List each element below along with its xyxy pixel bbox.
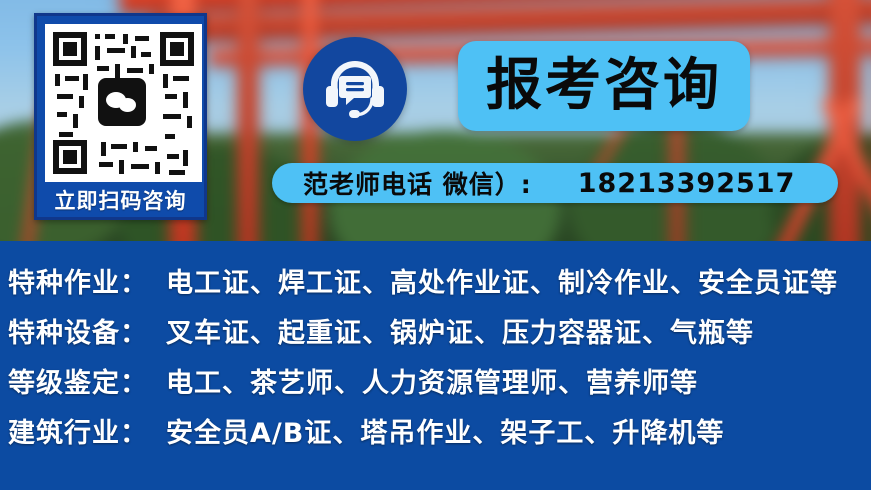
category-label: 建筑行业： — [8, 411, 148, 450]
category-row-construction-industry: 建筑行业： 安全员A/B证、塔吊作业、架子工、升降机等 — [8, 405, 724, 455]
qr-finder-bottom-left — [53, 140, 87, 174]
contact-phone-number[interactable]: 18213392517 — [578, 168, 796, 199]
category-row-grade-assessment: 等级鉴定： 电工、茶艺师、人力资源管理师、营养师等 — [8, 355, 698, 405]
headset-support-icon — [303, 37, 407, 141]
qr-finder-top-left — [53, 32, 87, 66]
category-items: 电工、茶艺师、人力资源管理师、营养师等 — [166, 361, 698, 400]
category-items: 电工证、焊工证、高处作业证、制冷作业、安全员证等 — [166, 261, 838, 300]
scaffold-post — [238, 0, 258, 241]
qr-card[interactable]: 立即扫码咨询 — [34, 13, 207, 220]
category-row-special-operations: 特种作业： 电工证、焊工证、高处作业证、制冷作业、安全员证等 — [8, 255, 838, 305]
page-title: 报考咨询 — [486, 58, 722, 114]
certificate-category-panel: 特种作业： 电工证、焊工证、高处作业证、制冷作业、安全员证等 特种设备： 叉车证… — [0, 241, 871, 490]
qr-finder-top-right — [160, 32, 194, 66]
category-row-special-equipment: 特种设备： 叉车证、起重证、锅炉证、压力容器证、气瓶等 — [8, 305, 754, 355]
contact-banner[interactable]: 范老师电话 微信）: 18213392517 — [272, 163, 838, 203]
title-banner: 报考咨询 — [458, 41, 750, 131]
category-label: 特种作业： — [8, 261, 148, 300]
category-label: 等级鉴定： — [8, 361, 148, 400]
contact-label: 范老师电话 微信）: — [303, 165, 532, 201]
wechat-icon — [98, 78, 146, 126]
category-label: 特种设备： — [8, 311, 148, 350]
category-items: 安全员A/B证、塔吊作业、架子工、升降机等 — [166, 411, 724, 450]
promotional-poster: 立即扫码咨询 报考咨询 范老师电话 微信）: 18213392517 特种作业：… — [0, 0, 871, 490]
qr-caption: 立即扫码咨询 — [45, 182, 196, 220]
qr-code-image — [45, 24, 202, 182]
category-items: 叉车证、起重证、锅炉证、压力容器证、气瓶等 — [166, 311, 754, 350]
